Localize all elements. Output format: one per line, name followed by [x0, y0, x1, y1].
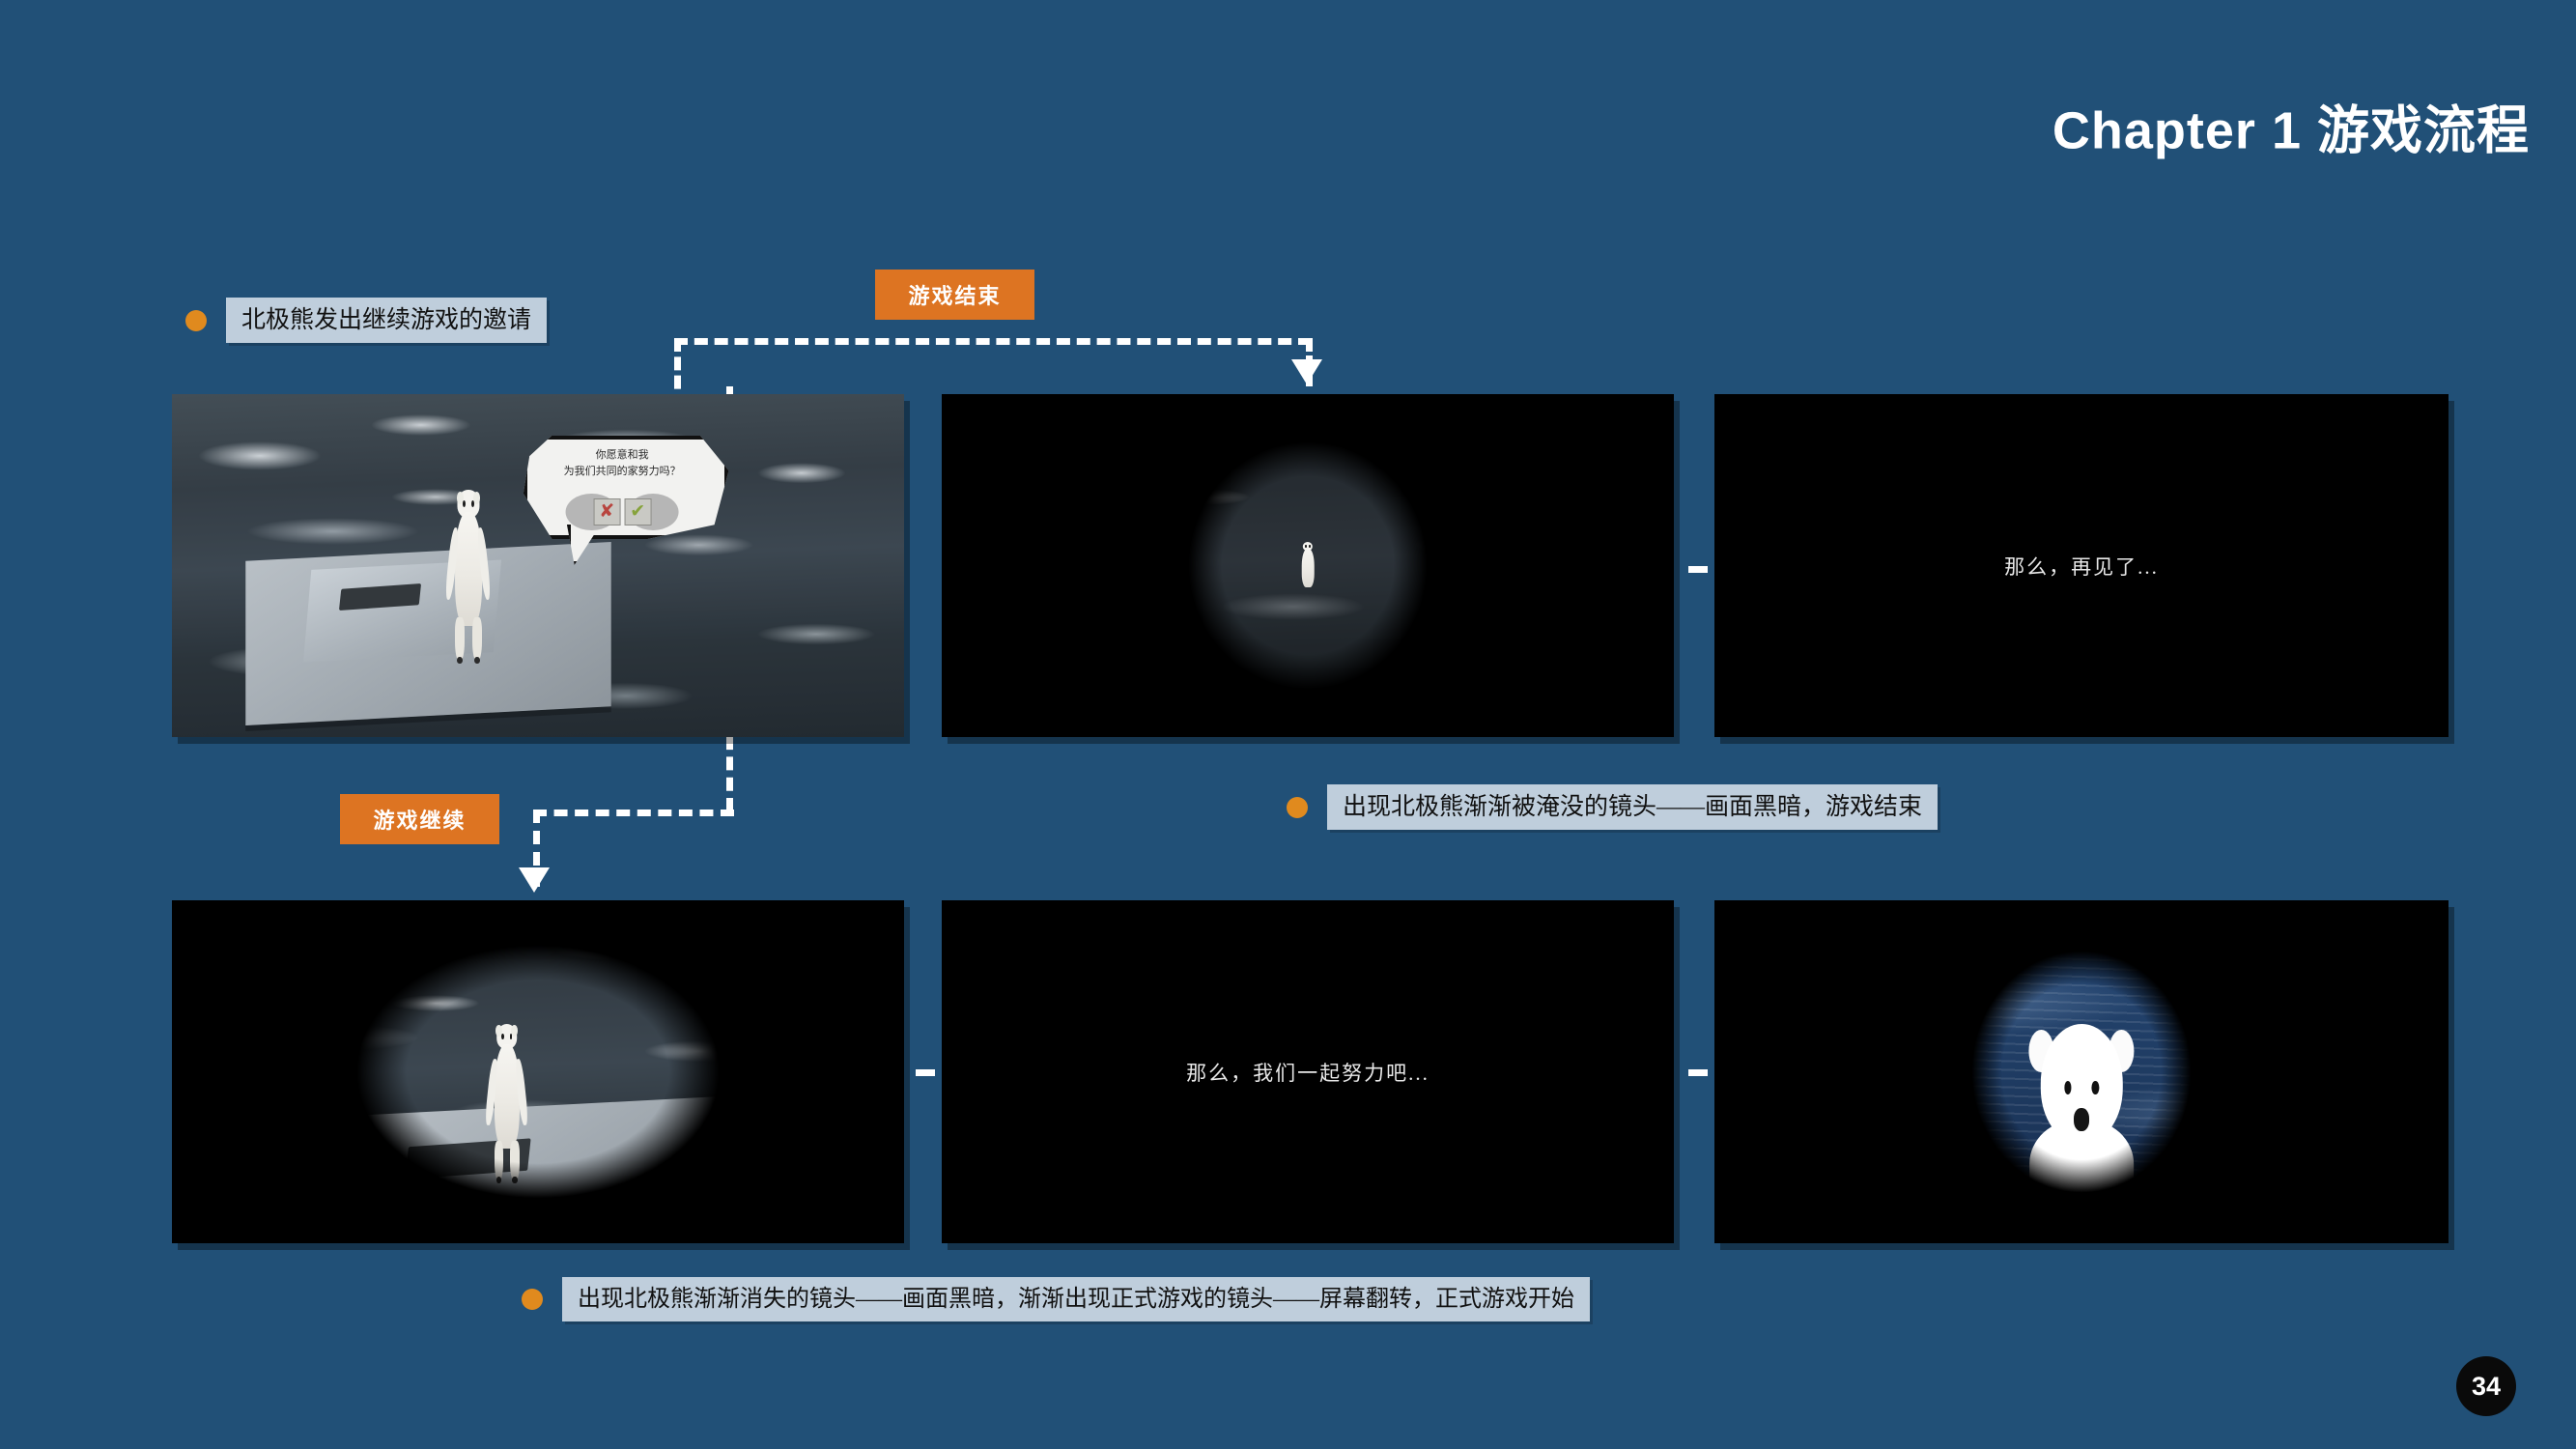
connector-arrow-down-game-continue — [519, 867, 550, 893]
bear-leg-right — [472, 617, 482, 662]
panel-together: 那么，我们一起努力吧... — [942, 900, 1674, 1243]
bullet-dot-icon — [522, 1289, 543, 1310]
polar-bear — [479, 1024, 534, 1181]
ice-floe — [245, 552, 611, 716]
caption-game-over: 出现北极熊渐渐被淹没的镜头——画面黑暗，游戏结束 — [1287, 784, 1938, 830]
caption-game-start-text: 出现北极熊渐渐消失的镜头——画面黑暗，渐渐出现正式游戏的镜头——屏幕翻转，正式游… — [562, 1277, 1590, 1321]
bear-eye-left — [463, 500, 466, 507]
flow-chip-game-continue[interactable]: 游戏继续 — [340, 794, 499, 844]
panel-bear-submerging — [942, 394, 1674, 737]
connector-dash-5 — [1688, 1069, 1708, 1076]
speech-bubble-options: ✘ ✔ — [561, 494, 684, 530]
bear-body — [1302, 549, 1315, 587]
cross-icon: ✘ — [599, 502, 614, 521]
polar-bear-face — [2019, 1024, 2143, 1216]
speech-bubble: 你愿意和我 为我们共同的家努力吗？ ✘ ✔ — [524, 436, 722, 559]
caption-invite-text: 北极熊发出继续游戏的邀请 — [226, 298, 547, 343]
caption-invite: 北极熊发出继续游戏的邀请 — [185, 298, 547, 343]
ice-slab — [333, 1095, 743, 1240]
speech-bubble-text: 你愿意和我 为我们共同的家努力吗？ — [535, 447, 709, 479]
bear-eye-right — [1309, 545, 1310, 547]
bullet-dot-icon — [185, 310, 207, 331]
page-number-badge: 34 — [2456, 1356, 2516, 1416]
bear-paw-left — [457, 657, 462, 664]
decline-button[interactable]: ✘ — [593, 498, 620, 526]
bear-paw-left — [496, 1177, 501, 1183]
bear-paw-right — [474, 657, 479, 664]
bear-eye-right — [2091, 1081, 2099, 1094]
connector-top-horizontal — [674, 338, 1312, 345]
bullet-dot-icon — [1287, 797, 1308, 818]
check-icon: ✔ — [630, 502, 645, 521]
polar-bear — [439, 490, 498, 662]
flow-chip-game-continue-label: 游戏继续 — [373, 804, 466, 835]
page-number-label: 34 — [2472, 1372, 2501, 1402]
bear-leg-left — [495, 1141, 504, 1181]
page-title: Chapter 1 游戏流程 — [2052, 88, 2530, 164]
connector-arrow-down-game-over — [1291, 359, 1322, 384]
caption-game-start: 出现北极熊渐渐消失的镜头——画面黑暗，渐渐出现正式游戏的镜头——屏幕翻转，正式游… — [522, 1277, 1590, 1321]
flow-chip-game-over-label: 游戏结束 — [908, 279, 1001, 310]
bear-leg-right — [510, 1141, 520, 1181]
panel-farewell-subtitle: 那么，再见了... — [1714, 552, 2449, 581]
bear-eye-left — [2064, 1081, 2072, 1094]
speech-bubble-line2: 为我们共同的家努力吗？ — [535, 464, 709, 480]
bear-eye-left — [501, 1034, 504, 1040]
speech-bubble-line1: 你愿意和我 — [535, 447, 709, 464]
connector-dash-1 — [1688, 566, 1708, 573]
panel-together-subtitle: 那么，我们一起努力吧... — [942, 1058, 1674, 1087]
polar-bear-submerging — [1294, 542, 1320, 600]
connector-dash-3 — [916, 1069, 935, 1076]
panel-bear-face — [1714, 900, 2449, 1243]
bear-eye-left — [1305, 545, 1306, 547]
panel-bear-on-floe-vignette — [172, 900, 904, 1243]
caption-game-over-text: 出现北极熊渐渐被淹没的镜头——画面黑暗，游戏结束 — [1327, 784, 1938, 830]
accept-button[interactable]: ✔ — [624, 498, 651, 526]
bear-leg-left — [455, 617, 465, 662]
connector-lower-horizontal — [533, 810, 734, 816]
bear-nose — [2074, 1108, 2090, 1131]
panel-farewell: 那么，再见了... — [1714, 394, 2449, 737]
slide-canvas: Chapter 1 游戏流程 北极熊发出继续游戏的邀请 游戏结束 游戏继续 — [0, 0, 2576, 1449]
ice-floe — [333, 1106, 743, 1230]
bear-paw-right — [512, 1177, 517, 1183]
panel-bear-invite: 你愿意和我 为我们共同的家努力吗？ ✘ ✔ — [172, 394, 904, 737]
flow-chip-game-over[interactable]: 游戏结束 — [875, 270, 1034, 320]
